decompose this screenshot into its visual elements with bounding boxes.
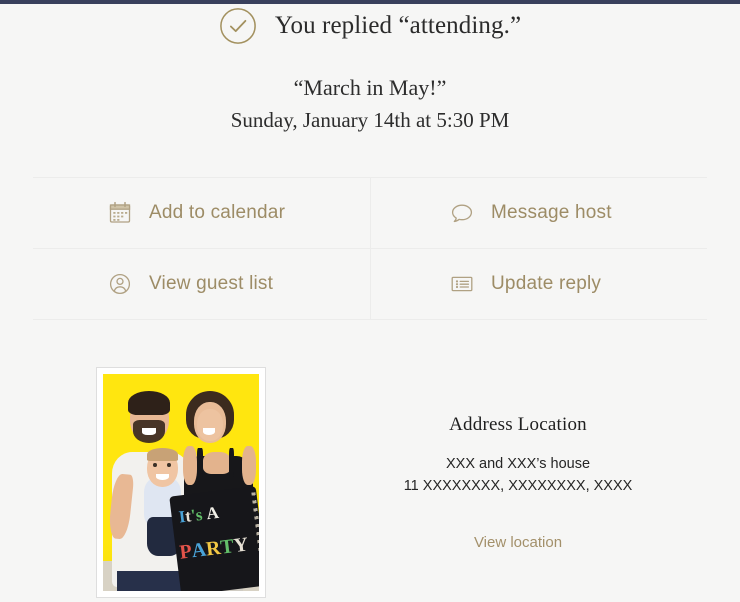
invitation-page: You replied “attending.” “March in May!”… bbox=[0, 0, 740, 602]
location-block: Address Location XXX and XXX’s house 11 … bbox=[300, 414, 736, 552]
photo-person-man-jeans bbox=[117, 571, 186, 591]
photo-party-sign-spiral bbox=[251, 492, 259, 580]
action-add-to-calendar[interactable]: Add to calendar bbox=[33, 178, 370, 248]
invitation-photo: It's A PARTY bbox=[103, 374, 259, 591]
event-datetime: Sunday, January 14th at 5:30 PM bbox=[0, 105, 740, 135]
location-line-2: 11 XXXXXXXX, XXXXXXXX, XXXX bbox=[300, 475, 736, 497]
action-view-guest-list[interactable]: View guest list bbox=[33, 249, 370, 319]
photo-person-baby-hair bbox=[147, 448, 178, 461]
photo-party-sign: It's A PARTY bbox=[169, 486, 259, 591]
speech-bubble-icon bbox=[449, 200, 475, 226]
action-label: Update reply bbox=[491, 273, 601, 295]
action-grid: Add to calendar Message host View guest … bbox=[33, 177, 707, 320]
check-circle-icon bbox=[219, 7, 257, 45]
photo-person-man-smile bbox=[142, 428, 156, 435]
photo-person-woman-chest bbox=[203, 452, 231, 474]
photo-person-woman-face bbox=[197, 409, 224, 442]
location-heading: Address Location bbox=[300, 414, 736, 436]
reply-status-text: You replied “attending.” bbox=[275, 12, 521, 40]
photo-person-baby-eye-left bbox=[153, 463, 157, 467]
photo-party-sign-line1: It's A bbox=[177, 503, 219, 528]
photo-person-woman-shoulder-left bbox=[183, 446, 197, 485]
location-line-1: XXX and XXX’s house bbox=[300, 453, 736, 475]
view-location-link[interactable]: View location bbox=[474, 534, 562, 551]
user-circle-icon bbox=[107, 271, 133, 297]
event-summary: “March in May!” Sunday, January 14th at … bbox=[0, 73, 740, 135]
photo-person-woman-strap-left bbox=[197, 448, 202, 478]
invitation-photo-card[interactable]: It's A PARTY bbox=[96, 367, 266, 598]
action-update-reply[interactable]: Update reply bbox=[370, 249, 707, 319]
action-row-top: Add to calendar Message host bbox=[33, 178, 707, 249]
action-label: Message host bbox=[491, 202, 612, 224]
reply-status-header: You replied “attending.” bbox=[0, 4, 740, 48]
action-message-host[interactable]: Message host bbox=[370, 178, 707, 248]
list-form-icon bbox=[449, 271, 475, 297]
photo-person-man-hair bbox=[128, 391, 170, 415]
action-label: View guest list bbox=[149, 273, 273, 295]
photo-person-woman-shoulder-right bbox=[242, 446, 256, 485]
action-row-bottom: View guest list Update reply bbox=[33, 249, 707, 319]
event-title: “March in May!” bbox=[0, 73, 740, 103]
photo-party-sign-line2: PARTY bbox=[178, 534, 249, 565]
photo-person-woman-strap-right bbox=[229, 448, 234, 478]
action-label: Add to calendar bbox=[149, 202, 285, 224]
calendar-icon bbox=[107, 200, 133, 226]
